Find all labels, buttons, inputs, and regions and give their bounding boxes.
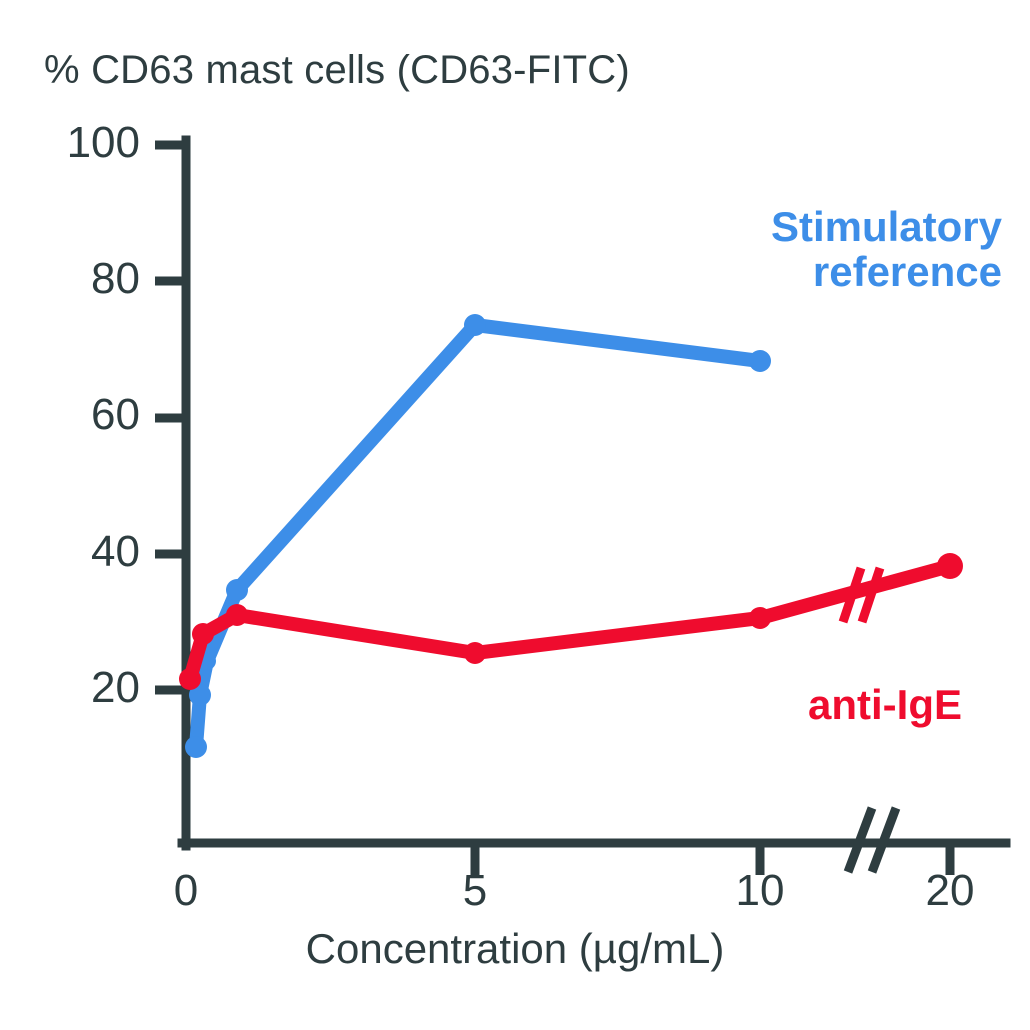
x-tick-label-5: 5: [415, 866, 535, 916]
series-stimulatory-reference: [185, 314, 771, 758]
x-tick-label-20: 20: [890, 866, 1010, 916]
x-tick-label-0: 0: [126, 866, 246, 916]
data-point: [749, 607, 771, 629]
data-point: [185, 736, 207, 758]
y-tick-label-80: 80: [0, 254, 140, 304]
y-tick-label-100: 100: [0, 118, 140, 168]
x-tick-label-10: 10: [700, 866, 820, 916]
y-tick-label-40: 40: [0, 527, 140, 577]
data-point: [192, 623, 214, 645]
series-anti-ige-line: [190, 566, 950, 679]
data-point: [226, 579, 248, 601]
data-point: [464, 642, 486, 664]
legend-stimulatory-reference: Stimulatory reference: [771, 204, 1002, 295]
chart-container: % CD63 mast cells (CD63-FITC): [0, 0, 1030, 1030]
x-axis-title: Concentration (µg/mL): [0, 925, 1030, 973]
y-axis-ticks: [155, 145, 186, 690]
legend-anti-ige: anti-IgE: [808, 682, 962, 727]
data-point: [937, 553, 963, 579]
data-point: [226, 604, 248, 626]
series-stimulatory-line: [196, 325, 760, 747]
y-tick-label-60: 60: [0, 390, 140, 440]
data-point: [464, 314, 486, 336]
data-point: [749, 350, 771, 372]
y-tick-label-20: 20: [0, 663, 140, 713]
data-point: [179, 668, 201, 690]
